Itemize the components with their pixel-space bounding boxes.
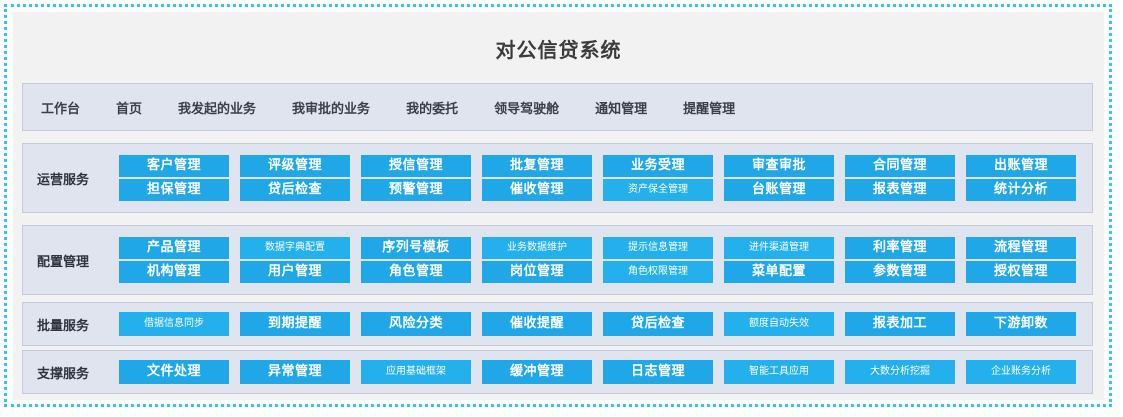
- module-button[interactable]: 产品管理: [119, 237, 229, 259]
- section-label: 运营服务: [37, 144, 109, 212]
- section-label: 配置管理: [37, 226, 109, 294]
- module-button[interactable]: 预警管理: [361, 179, 471, 201]
- nav-item-2[interactable]: 首页: [116, 98, 142, 117]
- module-button[interactable]: 担保管理: [119, 179, 229, 201]
- module-button[interactable]: 日志管理: [603, 360, 713, 384]
- module-button[interactable]: 提示信息管理: [603, 237, 713, 259]
- page-content: 对公信贷系统 工作台首页我发起的业务我审批的业务我的委托领导驾驶舱通知管理提醒管…: [13, 12, 1104, 400]
- module-button[interactable]: 催收提醒: [482, 312, 592, 336]
- module-button[interactable]: 统计分析: [966, 179, 1076, 201]
- module-button[interactable]: 催收管理: [482, 179, 592, 201]
- page-title: 对公信贷系统: [13, 34, 1104, 63]
- section-3: 批量服务借据信息同步到期提醒风险分类催收提醒贷后检查额度自动失效报表加工下游卸数: [22, 302, 1093, 346]
- button-column: 下游卸数: [966, 312, 1076, 336]
- button-column: 利率管理参数管理: [845, 237, 955, 283]
- button-column: 企业账务分析: [966, 360, 1076, 384]
- button-column: 报表加工: [845, 312, 955, 336]
- module-button[interactable]: 菜单配置: [724, 261, 834, 283]
- button-column: 客户管理担保管理: [119, 155, 229, 201]
- module-button[interactable]: 机构管理: [119, 261, 229, 283]
- module-button[interactable]: 智能工具应用: [724, 360, 834, 384]
- button-column: 借据信息同步: [119, 312, 229, 336]
- module-button[interactable]: 应用基础框架: [361, 360, 471, 384]
- main-navigation-bar: 工作台首页我发起的业务我审批的业务我的委托领导驾驶舱通知管理提醒管理: [22, 83, 1093, 131]
- nav-item-7[interactable]: 通知管理: [595, 98, 647, 117]
- module-button[interactable]: 风险分类: [361, 312, 471, 336]
- button-column: 日志管理: [603, 360, 713, 384]
- button-column: 文件处理: [119, 360, 229, 384]
- section-button-grid: 客户管理担保管理评级管理贷后检查授信管理预警管理批复管理催收管理业务受理资产保全…: [119, 144, 1084, 212]
- nav-item-1[interactable]: 工作台: [41, 98, 80, 117]
- button-column: 异常管理: [240, 360, 350, 384]
- nav-item-3[interactable]: 我发起的业务: [178, 98, 256, 117]
- button-column: 审查审批台账管理: [724, 155, 834, 201]
- button-column: 大数分析挖掘: [845, 360, 955, 384]
- nav-item-6[interactable]: 领导驾驶舱: [494, 98, 559, 117]
- module-button[interactable]: 台账管理: [724, 179, 834, 201]
- module-button[interactable]: 贷后检查: [240, 179, 350, 201]
- button-column: 批复管理催收管理: [482, 155, 592, 201]
- button-column: 合同管理报表管理: [845, 155, 955, 201]
- module-button[interactable]: 异常管理: [240, 360, 350, 384]
- module-button[interactable]: 评级管理: [240, 155, 350, 177]
- nav-item-8[interactable]: 提醒管理: [683, 98, 735, 117]
- module-button[interactable]: 报表加工: [845, 312, 955, 336]
- module-button[interactable]: 资产保全管理: [603, 179, 713, 201]
- module-button[interactable]: 大数分析挖掘: [845, 360, 955, 384]
- module-button[interactable]: 流程管理: [966, 237, 1076, 259]
- module-button[interactable]: 额度自动失效: [724, 312, 834, 336]
- module-button[interactable]: 到期提醒: [240, 312, 350, 336]
- module-button[interactable]: 企业账务分析: [966, 360, 1076, 384]
- button-column: 流程管理授权管理: [966, 237, 1076, 283]
- module-button[interactable]: 业务数据维护: [482, 237, 592, 259]
- button-column: 业务受理资产保全管理: [603, 155, 713, 201]
- module-button[interactable]: 岗位管理: [482, 261, 592, 283]
- button-column: 风险分类: [361, 312, 471, 336]
- section-4: 支撑服务文件处理异常管理应用基础框架缓冲管理日志管理智能工具应用大数分析挖掘企业…: [22, 350, 1093, 394]
- button-column: 业务数据维护岗位管理: [482, 237, 592, 283]
- module-button[interactable]: 审查审批: [724, 155, 834, 177]
- button-column: 评级管理贷后检查: [240, 155, 350, 201]
- module-button[interactable]: 报表管理: [845, 179, 955, 201]
- button-column: 进件渠道管理菜单配置: [724, 237, 834, 283]
- module-button[interactable]: 授权管理: [966, 261, 1076, 283]
- module-button[interactable]: 借据信息同步: [119, 312, 229, 336]
- section-button-grid: 借据信息同步到期提醒风险分类催收提醒贷后检查额度自动失效报表加工下游卸数: [119, 303, 1084, 345]
- module-button[interactable]: 贷后检查: [603, 312, 713, 336]
- module-button[interactable]: 授信管理: [361, 155, 471, 177]
- module-button[interactable]: 文件处理: [119, 360, 229, 384]
- button-column: 出账管理统计分析: [966, 155, 1076, 201]
- button-column: 贷后检查: [603, 312, 713, 336]
- button-column: 催收提醒: [482, 312, 592, 336]
- button-column: 序列号模板角色管理: [361, 237, 471, 283]
- module-button[interactable]: 参数管理: [845, 261, 955, 283]
- module-button[interactable]: 角色管理: [361, 261, 471, 283]
- button-column: 额度自动失效: [724, 312, 834, 336]
- section-button-grid: 产品管理机构管理数据字典配置用户管理序列号模板角色管理业务数据维护岗位管理提示信…: [119, 226, 1084, 294]
- section-label: 批量服务: [37, 303, 109, 345]
- button-column: 到期提醒: [240, 312, 350, 336]
- module-button[interactable]: 客户管理: [119, 155, 229, 177]
- section-2: 配置管理产品管理机构管理数据字典配置用户管理序列号模板角色管理业务数据维护岗位管…: [22, 225, 1093, 295]
- module-button[interactable]: 批复管理: [482, 155, 592, 177]
- module-button[interactable]: 数据字典配置: [240, 237, 350, 259]
- module-button[interactable]: 利率管理: [845, 237, 955, 259]
- button-column: 应用基础框架: [361, 360, 471, 384]
- module-button[interactable]: 合同管理: [845, 155, 955, 177]
- button-column: 授信管理预警管理: [361, 155, 471, 201]
- page-border-frame: 对公信贷系统 工作台首页我发起的业务我审批的业务我的委托领导驾驶舱通知管理提醒管…: [4, 4, 1112, 407]
- button-column: 提示信息管理角色权限管理: [603, 237, 713, 283]
- module-button[interactable]: 角色权限管理: [603, 261, 713, 283]
- module-button[interactable]: 序列号模板: [361, 237, 471, 259]
- module-button[interactable]: 业务受理: [603, 155, 713, 177]
- nav-item-5[interactable]: 我的委托: [406, 98, 458, 117]
- module-button[interactable]: 出账管理: [966, 155, 1076, 177]
- button-column: 产品管理机构管理: [119, 237, 229, 283]
- section-label: 支撑服务: [37, 351, 109, 393]
- module-button[interactable]: 缓冲管理: [482, 360, 592, 384]
- button-column: 数据字典配置用户管理: [240, 237, 350, 283]
- module-button[interactable]: 下游卸数: [966, 312, 1076, 336]
- nav-item-list: 工作台首页我发起的业务我审批的业务我的委托领导驾驶舱通知管理提醒管理: [41, 84, 735, 130]
- button-column: 智能工具应用: [724, 360, 834, 384]
- button-column: 缓冲管理: [482, 360, 592, 384]
- section-1: 运营服务客户管理担保管理评级管理贷后检查授信管理预警管理批复管理催收管理业务受理…: [22, 143, 1093, 213]
- nav-item-4[interactable]: 我审批的业务: [292, 98, 370, 117]
- module-button[interactable]: 用户管理: [240, 261, 350, 283]
- section-button-grid: 文件处理异常管理应用基础框架缓冲管理日志管理智能工具应用大数分析挖掘企业账务分析: [119, 351, 1084, 393]
- module-button[interactable]: 进件渠道管理: [724, 237, 834, 259]
